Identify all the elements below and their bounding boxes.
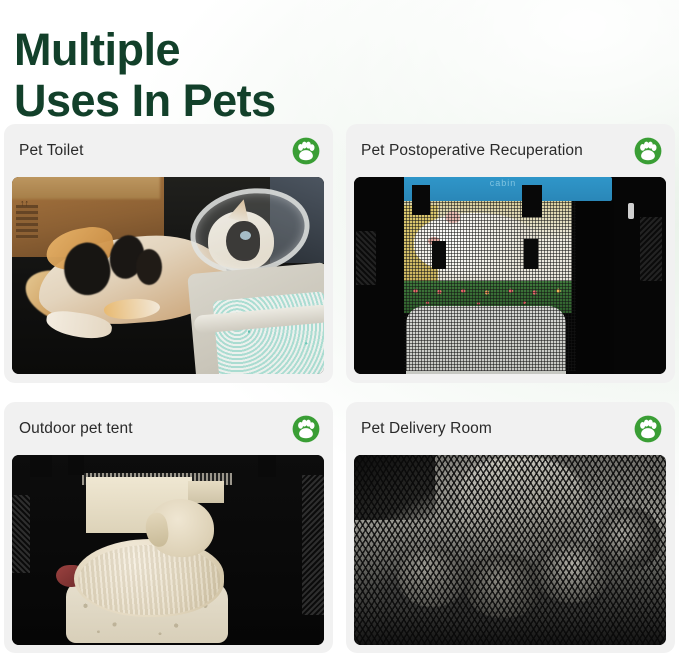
- page-title: Multiple Uses In Pets: [14, 24, 534, 126]
- card-title: Pet Delivery Room: [361, 420, 492, 438]
- use-case-card-pet-delivery-room[interactable]: Pet Delivery Room: [346, 402, 675, 653]
- infographic-page: Multiple Uses In Pets Pet Toilet ↑↑: [0, 0, 679, 664]
- paw-icon: [292, 415, 320, 443]
- card-title: Outdoor pet tent: [19, 420, 133, 438]
- paw-icon: [292, 137, 320, 165]
- use-case-card-pet-postoperative-recuperation[interactable]: Pet Postoperative Recuperation cabin: [346, 124, 675, 383]
- photo-outdoor-pet-tent: [12, 455, 324, 645]
- card-title: Pet Toilet: [19, 142, 83, 160]
- card-header: Pet Toilet: [4, 124, 333, 177]
- use-case-card-outdoor-pet-tent[interactable]: Outdoor pet tent: [4, 402, 333, 653]
- photo-pet-postoperative-recuperation: cabin: [354, 177, 666, 374]
- card-header: Outdoor pet tent: [4, 402, 333, 455]
- use-case-grid: Pet Toilet ↑↑: [4, 124, 675, 653]
- photo-pet-delivery-room: [354, 455, 666, 645]
- card-header: Pet Postoperative Recuperation: [346, 124, 675, 177]
- card-title: Pet Postoperative Recuperation: [361, 142, 583, 160]
- photo-pet-toilet: ↑↑: [12, 177, 324, 374]
- use-case-card-pet-toilet[interactable]: Pet Toilet ↑↑: [4, 124, 333, 383]
- paw-icon: [634, 137, 662, 165]
- card-header: Pet Delivery Room: [346, 402, 675, 455]
- paw-icon: [634, 415, 662, 443]
